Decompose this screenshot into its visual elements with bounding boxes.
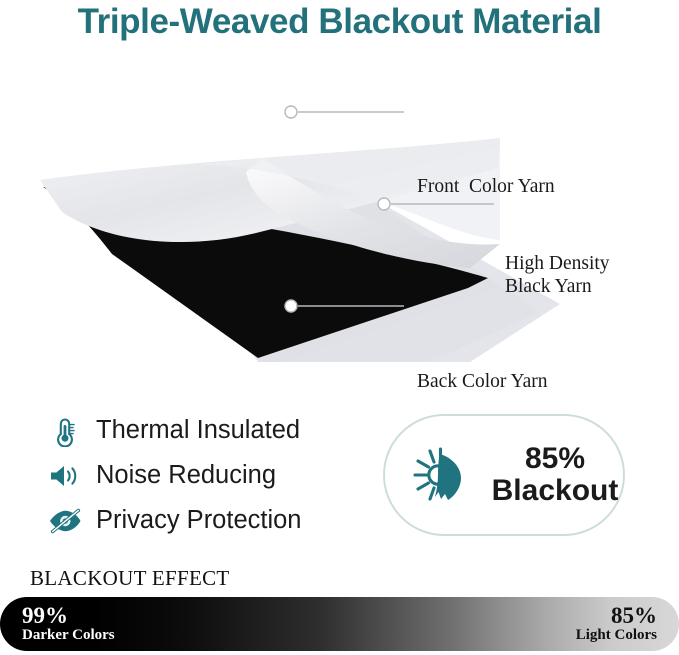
gradient-left-caption: Darker Colors bbox=[22, 628, 115, 644]
callout-label-front: Front Color Yarn bbox=[417, 175, 555, 198]
eye-slash-icon bbox=[46, 502, 84, 540]
fabric-diagram-svg bbox=[0, 72, 679, 362]
badge-word: Blackout bbox=[487, 475, 623, 507]
badge-percent: 85% bbox=[487, 443, 623, 475]
feature-item-thermal-insulated: Thermal Insulated bbox=[46, 408, 376, 453]
feature-item-privacy-protection: Privacy Protection bbox=[46, 498, 376, 543]
gradient-right-block: 85% Light Colors bbox=[576, 604, 657, 644]
blackout-effect-section: BLACKOUT EFFECT 99% Darker Colors 85% Li… bbox=[0, 566, 679, 655]
page-title: Triple-Weaved Blackout Material bbox=[0, 2, 679, 42]
callout-leader-front bbox=[285, 106, 404, 118]
callout-label-high-density: High Density Black Yarn bbox=[505, 252, 610, 298]
sun-shade-icon bbox=[407, 442, 473, 508]
badge-text-block: 85% Blackout bbox=[487, 443, 623, 507]
thermometer-icon bbox=[46, 412, 84, 450]
gradient-left-block: 99% Darker Colors bbox=[22, 604, 115, 644]
feature-label-noise-reducing: Noise Reducing bbox=[96, 461, 276, 490]
blackout-effect-heading: BLACKOUT EFFECT bbox=[30, 566, 230, 591]
gradient-left-percent: 99% bbox=[22, 604, 115, 628]
feature-label-thermal-insulated: Thermal Insulated bbox=[96, 416, 300, 445]
callout-label-back: Back Color Yarn bbox=[417, 370, 548, 393]
gradient-right-caption: Light Colors bbox=[576, 628, 657, 644]
fabric-layer-diagram: Front Color Yarn High Density Black Yarn… bbox=[0, 72, 679, 362]
feature-item-noise-reducing: Noise Reducing bbox=[46, 453, 376, 498]
feature-label-privacy-protection: Privacy Protection bbox=[96, 506, 302, 535]
speaker-icon bbox=[46, 457, 84, 495]
feature-list: Thermal Insulated Noise Reducing Privacy… bbox=[46, 408, 376, 543]
gradient-right-percent: 85% bbox=[576, 604, 657, 628]
blackout-badge: 85% Blackout bbox=[383, 414, 625, 536]
